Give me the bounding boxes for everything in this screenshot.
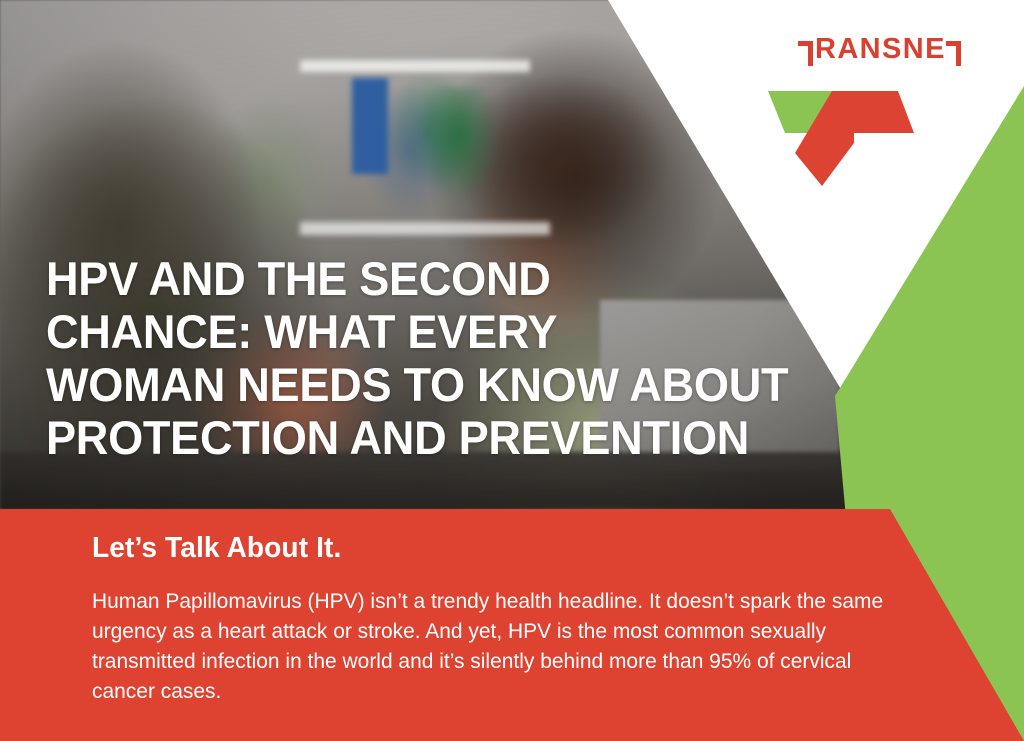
wordmark-lead-t-glyph xyxy=(798,41,815,66)
band-body-text: Human Papillomavirus (HPV) isn’t a trend… xyxy=(92,586,907,706)
red-band-content: Let’s Talk About It. Human Papillomaviru… xyxy=(92,531,932,706)
wordmark-middle-letters: RANSNE xyxy=(815,33,946,66)
transnet-logo[interactable]: RANSNE xyxy=(762,33,982,193)
transnet-chevron-mark-icon xyxy=(762,81,922,191)
page-title: HPV AND THE SECOND CHANCE: WHAT EVERY WO… xyxy=(46,252,804,464)
band-heading: Let’s Talk About It. xyxy=(92,531,907,565)
poster-canvas: RANSNE HPV AND THE SECOND CHANCE: WHAT E… xyxy=(0,0,1024,741)
transnet-wordmark: RANSNE xyxy=(798,33,963,66)
wordmark-tail-t-glyph xyxy=(946,41,963,66)
